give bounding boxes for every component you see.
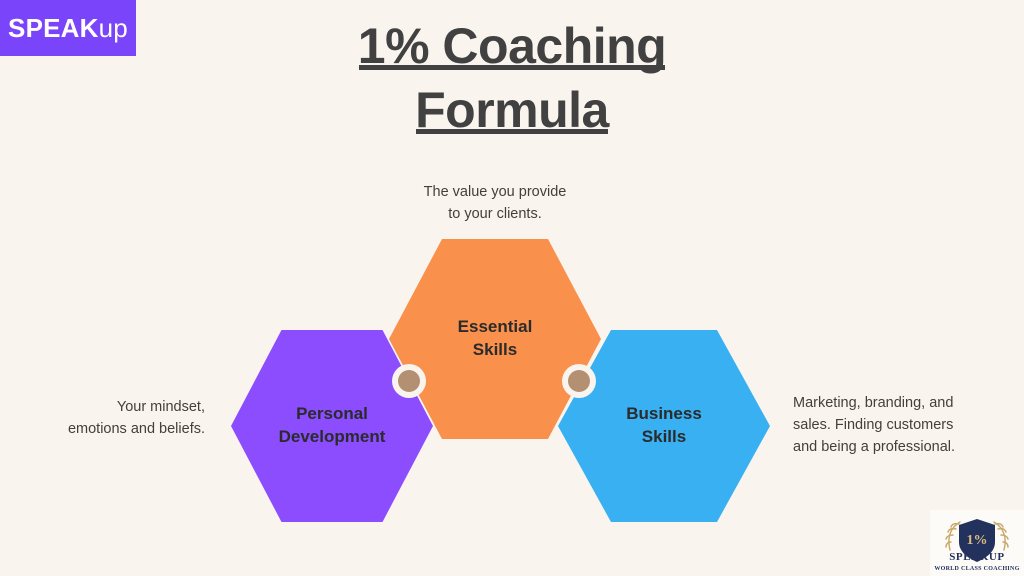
hex-label-business-skills: Business Skills <box>626 403 702 449</box>
crest-tagline: WORLD CLASS COACHING <box>930 566 1024 572</box>
coaching-formula-diagram: Personal Development Essential Skills Bu… <box>0 0 1024 576</box>
speakup-crest-watermark: 1% SPEAKUP WORLD CLASS COACHING <box>930 510 1024 576</box>
hex-label-essential-skills: Essential Skills <box>458 316 533 362</box>
connector-dot-left <box>392 364 426 398</box>
svg-text:1%: 1% <box>967 533 988 548</box>
crest-name: SPEAKUP <box>930 552 1024 563</box>
caption-personal-development: Your mindset, emotions and beliefs. <box>10 397 205 441</box>
connector-dot-right <box>562 364 596 398</box>
caption-business-skills: Marketing, branding, and sales. Finding … <box>793 393 988 458</box>
hex-label-personal-development: Personal Development <box>279 403 386 449</box>
caption-essential-skills: The value you provide to your clients. <box>345 182 645 226</box>
